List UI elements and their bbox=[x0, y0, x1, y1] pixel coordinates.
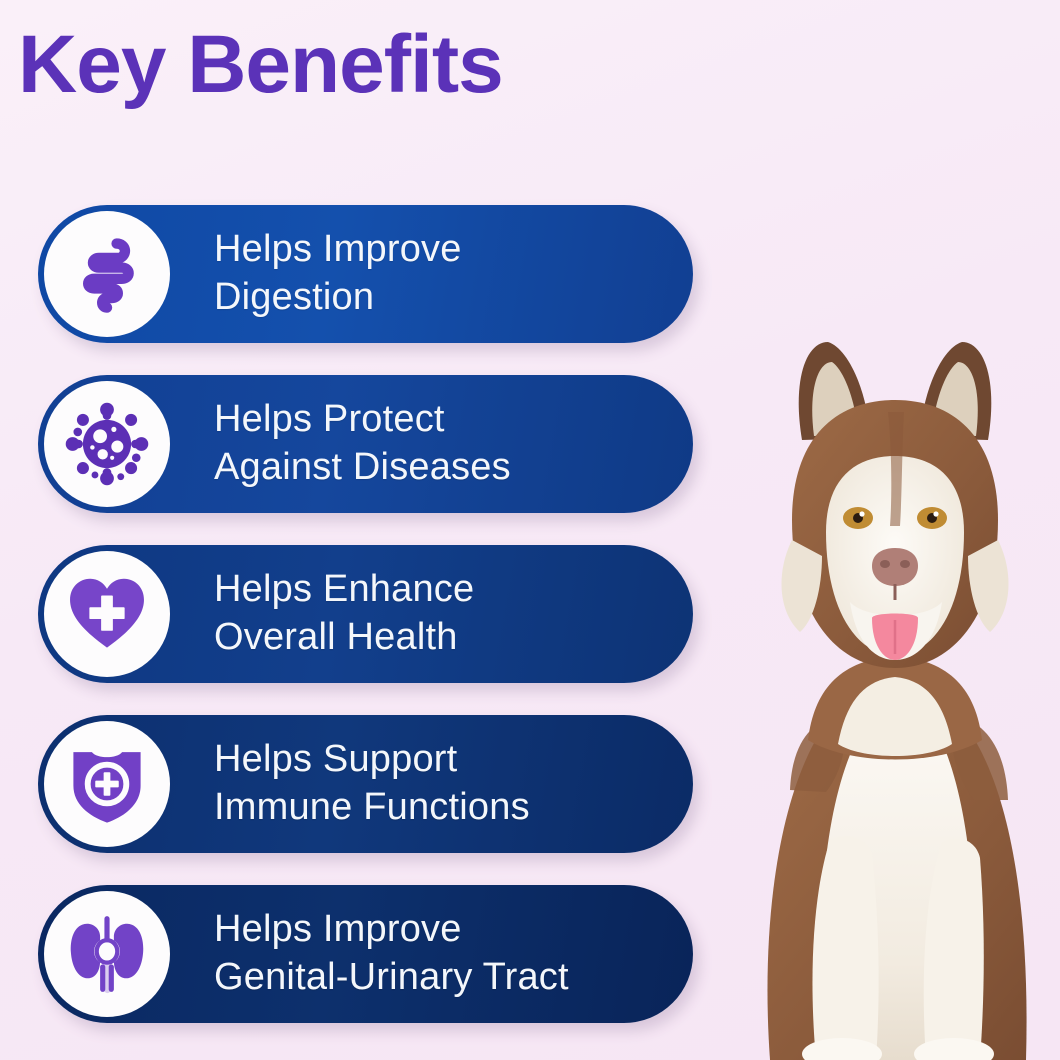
benefit-item-genital-urinary[interactable]: Helps Improve Genital-Urinary Tract bbox=[38, 885, 693, 1023]
benefits-list: Helps Improve Digestion bbox=[38, 205, 738, 1023]
benefit-item-digestion[interactable]: Helps Improve Digestion bbox=[38, 205, 693, 343]
dog-photo bbox=[730, 320, 1060, 1060]
benefit-label-diseases: Helps Protect Against Diseases bbox=[214, 396, 511, 492]
kidneys-icon bbox=[44, 891, 170, 1017]
key-benefits-page: Key Benefits Helps Improve Digestion bbox=[0, 0, 1060, 1060]
benefit-label-digestion: Helps Improve Digestion bbox=[214, 226, 462, 322]
benefit-label-overall-health: Helps Enhance Overall Health bbox=[214, 566, 474, 662]
benefit-item-diseases[interactable]: Helps Protect Against Diseases bbox=[38, 375, 693, 513]
shield-plus-icon bbox=[44, 721, 170, 847]
intestine-icon bbox=[44, 211, 170, 337]
benefit-item-immune[interactable]: Helps Support Immune Functions bbox=[38, 715, 693, 853]
benefit-item-overall-health[interactable]: Helps Enhance Overall Health bbox=[38, 545, 693, 683]
benefit-label-genital-urinary: Helps Improve Genital-Urinary Tract bbox=[214, 906, 569, 1002]
heart-plus-icon bbox=[44, 551, 170, 677]
page-title: Key Benefits bbox=[18, 22, 503, 108]
benefit-label-immune: Helps Support Immune Functions bbox=[214, 736, 530, 832]
virus-icon bbox=[44, 381, 170, 507]
